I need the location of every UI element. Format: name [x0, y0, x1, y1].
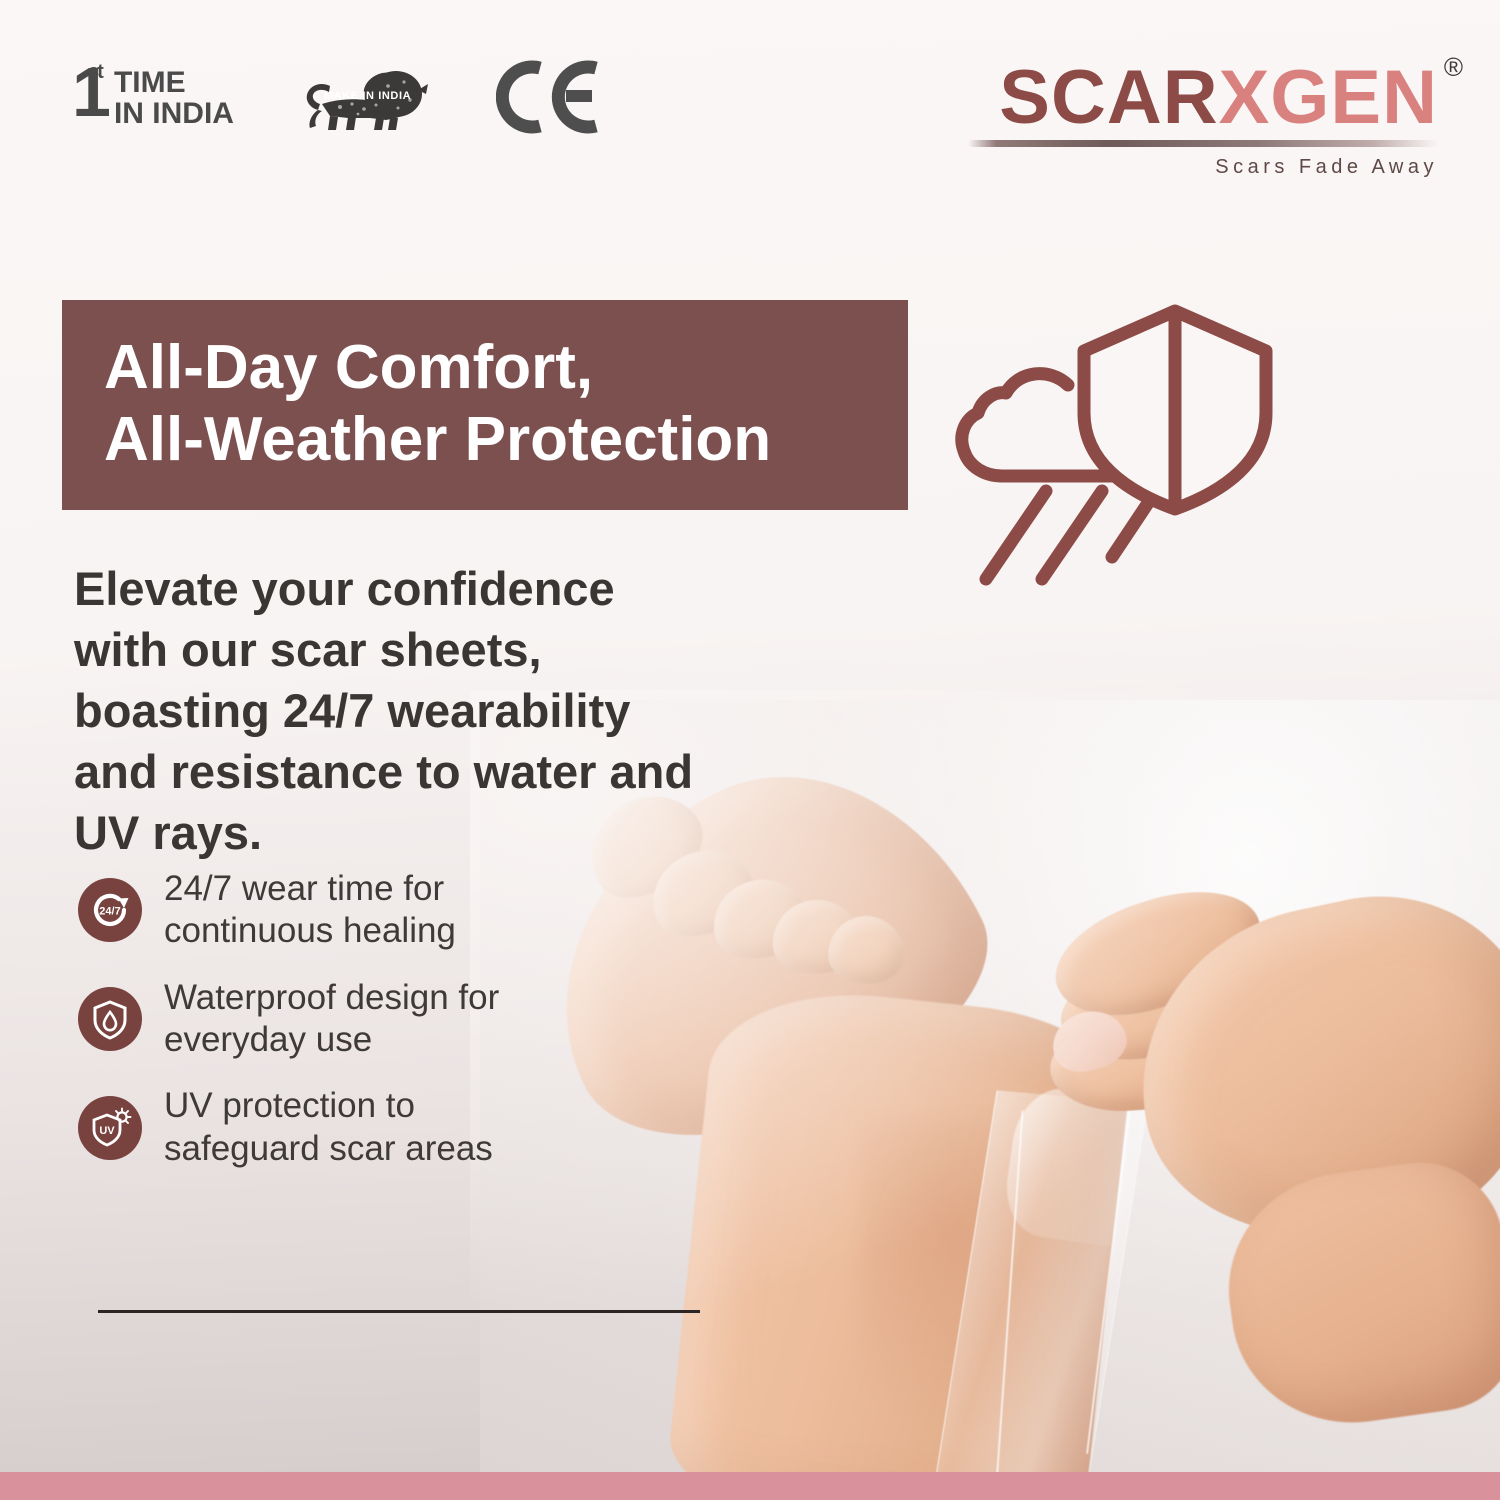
shield-droplet-glyph — [86, 995, 134, 1043]
feature-line-1: Waterproof design for — [164, 977, 499, 1019]
feature-line-2: safeguard scar areas — [164, 1128, 493, 1170]
logo-brush-underline — [968, 140, 1438, 147]
feature-line-1: UV protection to — [164, 1085, 493, 1127]
headline-line-1: All-Day Comfort, — [104, 332, 908, 404]
logo-wordmark: SCARXGEN ® — [968, 60, 1438, 136]
footer-accent-bar — [0, 1472, 1500, 1500]
feature-line-2: continuous healing — [164, 910, 456, 952]
feature-line-2: everyday use — [164, 1019, 499, 1061]
numeral-one: 1 st — [72, 64, 109, 121]
cloud-rain-shield-icon — [950, 295, 1280, 625]
feature-line-1: 24/7 wear time for — [164, 868, 456, 910]
shield-uv-sun-icon: UV — [78, 1096, 142, 1160]
svg-text:UV: UV — [99, 1125, 115, 1137]
section-divider — [98, 1310, 700, 1313]
scarxgen-logo: SCARXGEN ® Scars Fade Away — [968, 60, 1438, 179]
feature-text-wear-time: 24/7 wear time for continuous healing — [164, 868, 456, 953]
certification-badge-row: 1 st TIME IN INDIA — [72, 58, 604, 136]
feature-item-waterproof: Waterproof design for everyday use — [78, 977, 598, 1062]
ordinal-suffix: st — [88, 62, 102, 82]
feature-text-uv-protection: UV protection to safeguard scar areas — [164, 1085, 493, 1170]
shield-droplet-icon — [78, 987, 142, 1051]
body-paragraph: Elevate your confidence with our scar sh… — [74, 558, 714, 863]
first-time-in-india-badge: 1 st TIME IN INDIA — [72, 64, 234, 130]
registered-trademark-icon: ® — [1444, 54, 1464, 80]
clock-24-7-glyph: 24/7 — [86, 886, 134, 934]
feature-item-uv-protection: UV UV protection to safeguard scar areas — [78, 1085, 598, 1170]
shield-uv-sun-glyph: UV — [86, 1104, 134, 1152]
headline-banner: All-Day Comfort, All-Weather Protection — [62, 300, 908, 510]
promotional-poster: 1 st TIME IN INDIA — [0, 0, 1500, 1500]
feature-text-waterproof: Waterproof design for everyday use — [164, 977, 499, 1062]
logo-scar-text: SCAR — [999, 55, 1218, 140]
badge-line-time: TIME — [114, 68, 234, 99]
ce-mark-badge — [496, 58, 604, 136]
ce-mark-icon — [496, 58, 604, 136]
feature-item-wear-time: 24/7 24/7 wear time for continuous heali… — [78, 868, 598, 953]
svg-text:24/7: 24/7 — [99, 906, 120, 918]
badge-line-in-india: IN INDIA — [114, 99, 234, 130]
make-in-india-label: MAKE IN INDIA — [324, 90, 411, 102]
first-in-india-lines: TIME IN INDIA — [114, 64, 234, 130]
feature-list: 24/7 24/7 wear time for continuous heali… — [78, 868, 598, 1170]
make-in-india-badge: MAKE IN INDIA — [300, 60, 430, 134]
clock-24-7-icon: 24/7 — [78, 878, 142, 942]
cloud-rain-shield-glyph — [950, 295, 1280, 625]
logo-xgen-text: XGEN — [1219, 55, 1438, 140]
headline-line-2: All-Weather Protection — [104, 404, 908, 476]
logo-tagline: Scars Fade Away — [968, 156, 1438, 179]
